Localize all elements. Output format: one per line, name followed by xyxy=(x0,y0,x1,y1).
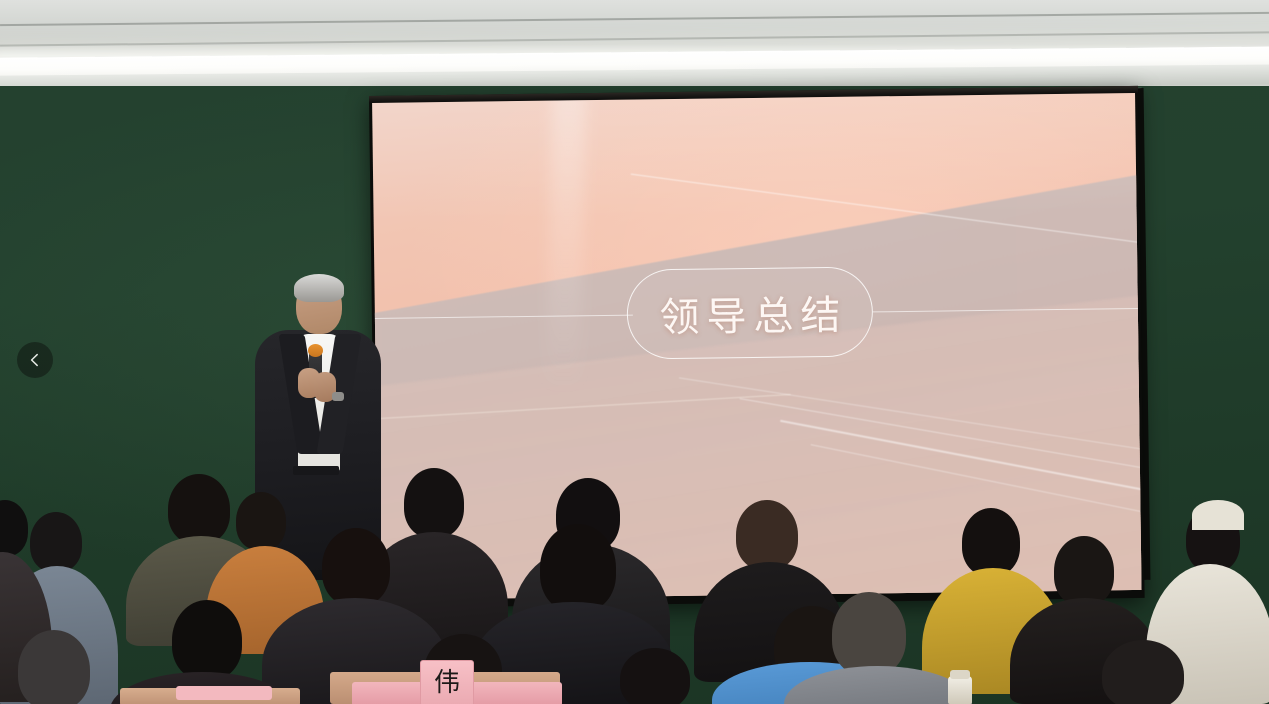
speaker-wristwatch xyxy=(332,392,344,401)
microphone-head xyxy=(308,344,323,357)
chevron-left-icon xyxy=(27,352,43,368)
slide-title-frame: 领导总结 xyxy=(626,266,873,359)
water-bottle xyxy=(948,676,972,704)
speaker-belt xyxy=(293,466,339,475)
slide-title: 领导总结 xyxy=(652,283,848,344)
name-placard: 伟 xyxy=(420,660,474,704)
screen-glare-top xyxy=(372,93,1137,223)
ceiling-seam xyxy=(0,31,1269,46)
ceiling-seam xyxy=(0,12,1269,26)
speaker-hair xyxy=(294,274,344,302)
water-bottle-cap xyxy=(950,670,970,679)
name-placard-text: 伟 xyxy=(421,661,473,704)
previous-button[interactable] xyxy=(17,342,53,378)
photo-viewer: 领导总结 xyxy=(0,0,1269,704)
front-desk-paper xyxy=(176,686,272,700)
